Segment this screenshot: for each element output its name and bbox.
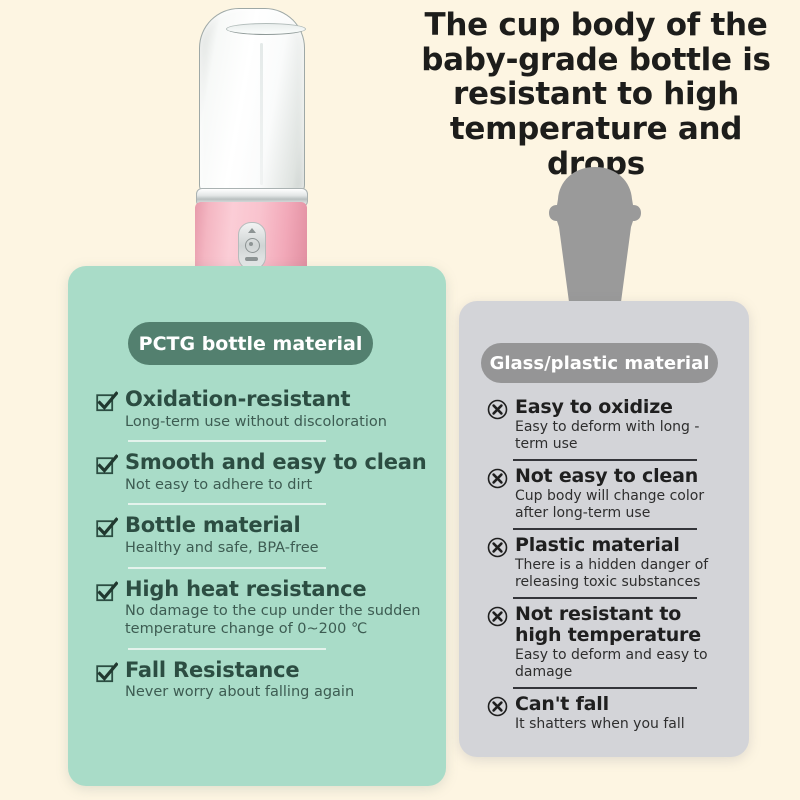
blender-lid-rim [226,23,306,35]
blender-cup-highlight [260,43,263,185]
list-item-title: Not resistant to high temperature [515,604,731,647]
list-item: Easy to oxidize Easy to deform with long… [487,397,731,453]
list-item-desc: Easy to deform and easy to damage [515,647,731,681]
checkbox-check-icon [96,662,118,684]
pctg-feature-list: Oxidation-resistant Long-term use withou… [96,388,432,702]
list-item-desc: There is a hidden danger of releasing to… [515,557,731,591]
checkbox-check-icon [96,581,118,603]
checkbox-check-icon [96,391,118,413]
pctg-material-badge: PCTG bottle material [128,322,373,365]
list-item: Not easy to clean Cup body will change c… [487,466,731,522]
divider [128,503,326,505]
circle-x-icon [487,606,508,627]
glass-plastic-feature-list: Easy to oxidize Easy to deform with long… [487,397,731,733]
list-item-title: Not easy to clean [515,466,731,487]
list-item-desc: Cup body will change color after long-te… [515,488,731,522]
checkbox-check-icon [96,454,118,476]
divider [513,687,697,689]
list-item-title: High heat resistance [125,578,432,602]
list-item-title: Bottle material [125,514,432,538]
circle-x-icon [487,537,508,558]
list-item-desc: Easy to deform with long -term use [515,419,731,453]
divider [128,567,326,569]
product-blender-image [186,4,314,290]
list-item: Bottle material Healthy and safe, BPA-fr… [96,514,432,557]
circle-x-icon [487,468,508,489]
list-item-desc: Not easy to adhere to dirt [125,477,432,495]
divider [513,597,697,599]
list-item: Not resistant to high temperature Easy t… [487,604,731,681]
list-item: Smooth and easy to clean Not easy to adh… [96,451,432,494]
list-item-desc: Healthy and safe, BPA-free [125,540,432,558]
list-item-title: Smooth and easy to clean [125,451,432,475]
list-item-title: Oxidation-resistant [125,388,432,412]
blender-control-panel [238,222,266,270]
divider [128,440,326,442]
panel-glass-plastic-material: Glass/plastic material Easy to oxidize E… [459,301,749,757]
divider [513,528,697,530]
list-item: Fall Resistance Never worry about fallin… [96,659,432,702]
panel-pctg-material: PCTG bottle material Oxidation-resistant… [68,266,446,786]
list-item: Plastic material There is a hidden dange… [487,535,731,591]
infographic-canvas: The cup body of the baby-grade bottle is… [0,0,800,800]
list-item-desc: Long-term use without discoloration [125,414,432,432]
circle-x-icon [487,399,508,420]
list-item: Oxidation-resistant Long-term use withou… [96,388,432,431]
divider [513,459,697,461]
list-item-title: Can't fall [515,694,731,715]
list-item-title: Plastic material [515,535,731,556]
list-item-desc: Never worry about falling again [125,684,432,702]
glass-plastic-material-badge: Glass/plastic material [481,343,718,383]
checkbox-check-icon [96,517,118,539]
list-item: High heat resistance No damage to the cu… [96,578,432,639]
bar-icon [245,257,258,261]
power-ring-icon [245,238,260,253]
circle-x-icon [487,696,508,717]
list-item-desc: It shatters when you fall [515,716,731,733]
list-item: Can't fall It shatters when you fall [487,694,731,733]
triangle-up-icon [248,228,256,233]
divider [128,648,326,650]
list-item-desc: No damage to the cup under the sudden te… [125,603,432,638]
list-item-title: Easy to oxidize [515,397,731,418]
gray-cup-silhouette-image [545,165,645,320]
page-title: The cup body of the baby-grade bottle is… [400,8,792,182]
list-item-title: Fall Resistance [125,659,432,683]
blender-cup [199,8,305,195]
